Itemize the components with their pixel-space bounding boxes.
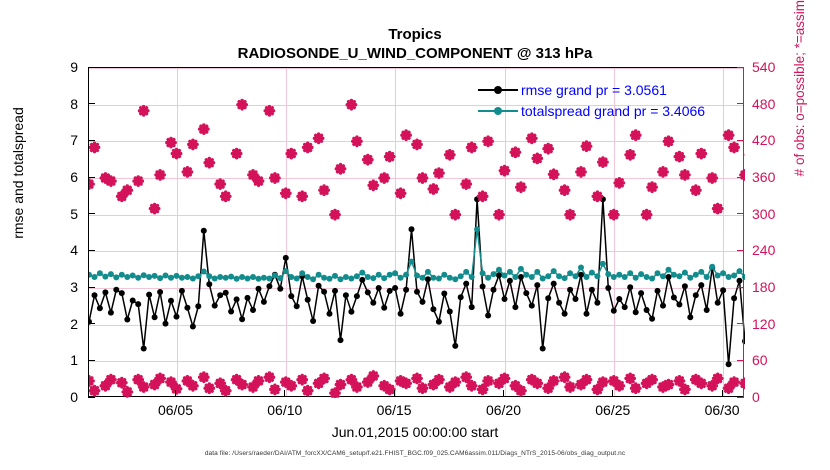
obs-marker — [462, 373, 470, 381]
series-point — [655, 270, 661, 276]
obs-marker — [429, 185, 437, 193]
series-point — [704, 274, 710, 280]
series-point — [414, 289, 420, 295]
series-point — [698, 269, 704, 275]
x-tick-label: 06/25 — [573, 402, 653, 418]
series-point — [179, 275, 185, 281]
series-point — [731, 295, 737, 301]
series-point — [715, 273, 721, 279]
series-point — [403, 272, 409, 278]
obs-marker — [528, 134, 536, 142]
series-point — [359, 270, 365, 276]
series-point — [573, 296, 579, 302]
series-point — [184, 274, 190, 280]
series-point — [573, 273, 579, 279]
series-point — [190, 276, 196, 282]
series-point — [704, 307, 710, 313]
obs-marker — [89, 377, 93, 385]
obs-marker — [435, 169, 443, 177]
series-point — [463, 281, 469, 287]
series-point — [425, 276, 431, 282]
series-point — [108, 310, 114, 316]
series-point — [622, 274, 628, 280]
series-point — [611, 274, 617, 280]
x-tick-mark — [284, 390, 285, 397]
series-point — [343, 274, 349, 280]
series-point — [403, 287, 409, 293]
series-point — [343, 292, 349, 298]
x-axis-label: Jun.01,2015 00:00:00 start — [0, 424, 830, 440]
series-point — [452, 343, 458, 349]
series-point — [507, 278, 513, 284]
series-point — [676, 273, 682, 279]
series-point — [567, 287, 573, 293]
obs-marker — [626, 374, 634, 382]
series-point — [108, 271, 114, 277]
series-point — [627, 270, 633, 276]
obs-marker — [150, 204, 158, 212]
series-point — [420, 275, 426, 281]
series-point — [589, 270, 595, 276]
series-point — [376, 272, 382, 278]
x-tick-label: 06/15 — [354, 402, 434, 418]
series-point — [201, 228, 207, 234]
series-point — [545, 273, 551, 279]
y-tick-mark-left — [88, 360, 95, 361]
series-point — [184, 305, 190, 311]
series-point — [737, 278, 743, 284]
series-point — [376, 285, 382, 291]
obs-marker — [615, 382, 623, 390]
series-point — [469, 274, 475, 280]
series-point — [392, 285, 398, 291]
series-point — [228, 309, 234, 315]
series-point — [687, 314, 693, 320]
series-point — [726, 361, 732, 367]
series-point — [698, 282, 704, 288]
obs-marker — [156, 374, 164, 382]
series-point — [638, 290, 644, 296]
series-point — [452, 276, 458, 282]
obs-marker — [298, 192, 306, 200]
series-point — [551, 281, 557, 287]
obs-marker — [435, 376, 443, 384]
series-point — [305, 297, 311, 303]
obs-marker — [331, 211, 339, 219]
series-point — [447, 275, 453, 281]
series-point — [589, 287, 595, 293]
series-point — [540, 276, 546, 282]
obs-marker — [386, 152, 394, 160]
series-point — [693, 272, 699, 278]
y-tick-label-right: 420 — [752, 132, 798, 148]
series-point — [562, 275, 568, 281]
series-point — [644, 307, 650, 313]
series-point — [523, 290, 529, 296]
obs-marker — [697, 379, 705, 387]
y-axis-right-label: # of obs: o=possible; *=assimilated — [792, 0, 807, 232]
series-point — [529, 274, 535, 280]
series-point — [168, 275, 174, 281]
obs-marker — [205, 384, 213, 392]
y-tick-label-left: 4 — [38, 242, 78, 258]
obs-marker — [566, 383, 574, 391]
series-point — [124, 317, 130, 323]
obs-marker — [626, 151, 634, 159]
obs-marker — [659, 168, 667, 176]
obs-marker — [610, 211, 618, 219]
series-point — [141, 272, 147, 278]
series-point — [649, 316, 655, 322]
obs-marker — [648, 376, 656, 384]
obs-marker — [664, 380, 672, 388]
x-tick-mark — [503, 390, 504, 397]
obs-marker — [500, 167, 508, 175]
series-point — [261, 299, 267, 305]
obs-marker — [560, 373, 568, 381]
series-point — [578, 272, 584, 278]
series-point — [726, 274, 732, 280]
series-point — [234, 276, 240, 282]
series-point — [174, 273, 180, 279]
series-point — [666, 267, 672, 273]
series-point — [605, 271, 611, 277]
series-point — [294, 303, 300, 309]
series-point — [239, 274, 245, 280]
obs-marker — [271, 174, 279, 182]
y-tick-label-left: 8 — [38, 96, 78, 112]
obs-marker — [336, 380, 344, 388]
obs-marker — [615, 179, 623, 187]
y-tick-label-left: 6 — [38, 169, 78, 185]
series-point — [709, 264, 715, 270]
obs-marker — [593, 192, 601, 200]
y-tick-label-left: 7 — [38, 132, 78, 148]
series-point — [480, 270, 486, 276]
obs-marker — [189, 140, 197, 148]
series-point — [633, 275, 639, 281]
series-point — [157, 289, 163, 295]
legend-item[interactable]: totalspread grand pr = 3.4066 — [478, 100, 705, 121]
obs-marker — [582, 142, 590, 150]
obs-marker — [697, 149, 705, 157]
obs-marker — [446, 151, 454, 159]
obs-marker — [730, 143, 738, 151]
obs-marker — [320, 186, 328, 194]
obs-marker — [222, 192, 230, 200]
x-tick-mark — [175, 390, 176, 397]
series-point — [310, 318, 316, 324]
x-tick-label: 06/20 — [464, 402, 544, 418]
series-point — [141, 346, 147, 352]
series-point — [578, 265, 584, 271]
series-point — [102, 274, 108, 280]
series-point — [474, 226, 480, 232]
series-point — [201, 269, 207, 275]
series-point — [228, 274, 234, 280]
obs-marker — [189, 382, 197, 390]
series-point — [239, 316, 245, 322]
y-tick-label-left: 9 — [38, 59, 78, 75]
series-point — [163, 321, 169, 327]
y-tick-label-right: 300 — [752, 206, 798, 222]
obs-marker — [287, 149, 295, 157]
obs-marker — [418, 384, 426, 392]
series-point — [283, 268, 289, 274]
y-tick-label-left: 5 — [38, 206, 78, 222]
obs-marker — [681, 385, 689, 393]
y-tick-label-right: 180 — [752, 279, 798, 295]
obs-marker — [478, 385, 486, 393]
series-point — [272, 273, 278, 279]
obs-marker — [550, 377, 558, 385]
series-point — [430, 275, 436, 281]
series-point — [332, 288, 338, 294]
y-tick-mark-left — [88, 103, 95, 104]
obs-marker — [566, 211, 574, 219]
obs-marker — [364, 156, 372, 164]
series-point — [217, 292, 223, 298]
series-point — [234, 296, 240, 302]
series-point — [556, 300, 562, 306]
obs-marker — [90, 387, 98, 395]
series-point — [299, 270, 305, 276]
series-point — [720, 270, 726, 276]
series-point — [655, 288, 661, 294]
obs-marker — [599, 158, 607, 166]
x-tick-mark — [722, 390, 723, 397]
series-point — [387, 288, 393, 294]
y-tick-label-right: 480 — [752, 96, 798, 112]
series-point — [370, 275, 376, 281]
obs-marker — [418, 174, 426, 182]
obs-marker — [254, 377, 262, 385]
series-point — [348, 309, 354, 315]
obs-marker — [413, 374, 421, 382]
series-point — [529, 303, 535, 309]
obs-marker — [413, 140, 421, 148]
obs-marker — [402, 131, 410, 139]
obs-marker — [314, 134, 322, 142]
series-point — [113, 287, 119, 293]
series-point — [605, 285, 611, 291]
series-point — [441, 291, 447, 297]
series-point — [644, 274, 650, 280]
obs-marker — [692, 186, 700, 194]
obs-marker — [265, 107, 273, 115]
series-point — [682, 270, 688, 276]
series-point — [261, 275, 267, 281]
series-point — [338, 337, 344, 343]
series-point — [633, 309, 639, 315]
series-point — [660, 303, 666, 309]
obs-marker — [123, 186, 131, 194]
series-point — [660, 273, 666, 279]
series-point — [288, 274, 294, 280]
series-point — [622, 304, 628, 310]
obs-marker — [254, 177, 262, 185]
y-tick-label-right: 60 — [752, 352, 798, 368]
series-point — [671, 295, 677, 301]
x-tick-mark — [612, 390, 613, 397]
obs-marker — [730, 378, 738, 386]
y-tick-mark-left — [88, 177, 95, 178]
series-point — [387, 272, 393, 278]
series-point — [682, 283, 688, 289]
obs-marker — [451, 211, 459, 219]
series-point — [212, 276, 218, 282]
series-point — [130, 273, 136, 279]
obs-marker — [90, 143, 98, 151]
series-point — [687, 275, 693, 281]
y-tick-mark-left — [88, 287, 95, 288]
series-point — [594, 300, 600, 306]
series-point — [168, 298, 174, 304]
series-point — [316, 272, 322, 278]
obs-marker — [544, 145, 552, 153]
obs-marker — [216, 180, 224, 188]
series-point — [463, 269, 469, 275]
obs-marker — [560, 186, 568, 194]
series-point — [491, 287, 497, 293]
series-point — [512, 304, 518, 310]
obs-marker — [484, 377, 492, 385]
series-point — [409, 259, 415, 265]
series-point — [502, 273, 508, 279]
y-tick-label-left: 1 — [38, 352, 78, 368]
obs-marker — [632, 384, 640, 392]
obs-marker — [89, 180, 93, 188]
y-tick-label-left: 0 — [38, 389, 78, 405]
series-point — [146, 292, 152, 298]
x-tick-mark — [394, 390, 395, 397]
series-point — [584, 274, 590, 280]
series-point — [146, 274, 152, 280]
obs-marker — [517, 387, 525, 395]
series-point — [365, 274, 371, 280]
series-point — [130, 298, 136, 304]
series-point — [195, 273, 201, 279]
series-point — [92, 292, 98, 298]
series-point — [420, 299, 426, 305]
obs-marker — [140, 107, 148, 115]
obs-marker — [304, 143, 312, 151]
obs-marker — [304, 387, 312, 395]
series-point — [447, 309, 453, 315]
obs-marker — [353, 383, 361, 391]
obs-marker — [714, 204, 722, 212]
series-point — [359, 277, 365, 283]
series-point — [212, 303, 218, 309]
series-point — [245, 295, 251, 301]
obs-marker — [396, 189, 404, 197]
series-point — [496, 267, 502, 273]
y-tick-label-right: 240 — [752, 242, 798, 258]
series-point — [507, 269, 513, 275]
series-point — [715, 300, 721, 306]
series-point — [92, 274, 98, 280]
series-point — [174, 314, 180, 320]
obs-marker — [577, 168, 585, 176]
obs-marker — [681, 171, 689, 179]
obs-marker — [500, 374, 508, 382]
series-point — [594, 273, 600, 279]
obs-marker — [265, 373, 273, 381]
series-point — [480, 284, 486, 290]
series-point — [113, 274, 119, 280]
series-point — [731, 273, 737, 279]
series-point — [616, 296, 622, 302]
obs-marker — [402, 379, 410, 387]
series-point — [518, 274, 524, 280]
series-point — [370, 300, 376, 306]
obs-marker — [172, 149, 180, 157]
obs-marker — [724, 131, 732, 139]
y-tick-mark-left — [88, 213, 95, 214]
chart-title-sub: RADIOSONDE_U_WIND_COMPONENT @ 313 hPa — [0, 45, 830, 62]
series-point — [430, 306, 436, 312]
obs-marker — [468, 382, 476, 390]
right-axis-spine — [743, 67, 744, 397]
series-point — [496, 272, 502, 278]
obs-marker — [462, 180, 470, 188]
series-point — [288, 293, 294, 299]
x-tick-label: 06/30 — [682, 402, 762, 418]
y-tick-mark-left — [88, 140, 95, 141]
series-point — [157, 275, 163, 281]
obs-marker — [478, 192, 486, 200]
series-point — [627, 284, 633, 290]
series-point — [567, 270, 573, 276]
y-tick-label-left: 2 — [38, 316, 78, 332]
obs-marker — [675, 377, 683, 385]
series-point — [119, 272, 125, 278]
series-point — [102, 289, 108, 295]
obs-marker — [298, 376, 306, 384]
data-file-caption: data file: /Users/raeder/DAI/ATM_forcXX/… — [0, 450, 830, 457]
obs-marker — [511, 148, 519, 156]
obs-marker — [369, 181, 377, 189]
series-point — [398, 275, 404, 281]
obs-marker — [282, 189, 290, 197]
series-point — [666, 274, 672, 280]
obs-marker — [675, 152, 683, 160]
obs-marker — [320, 374, 328, 382]
y-tick-label-left: 3 — [38, 279, 78, 295]
obs-marker — [140, 383, 148, 391]
x-tick-label: 06/05 — [136, 402, 216, 418]
series-point — [321, 275, 327, 281]
obs-marker — [205, 159, 213, 167]
series-point — [321, 289, 327, 295]
obs-marker — [468, 143, 476, 151]
legend-item[interactable]: rmse grand pr = 3.0561 — [478, 79, 705, 100]
series-point — [179, 288, 185, 294]
series-point — [195, 303, 201, 309]
series-point — [338, 276, 344, 282]
obs-marker — [533, 379, 541, 387]
series-point — [348, 276, 354, 282]
series-point — [354, 273, 360, 279]
series-point — [551, 268, 557, 274]
x-tick-label: 06/10 — [245, 402, 325, 418]
series-point — [256, 276, 262, 282]
obs-marker — [156, 171, 164, 179]
series-point — [152, 273, 158, 279]
y-tick-label-right: 120 — [752, 316, 798, 332]
series-point — [245, 276, 251, 282]
obs-marker — [134, 177, 142, 185]
